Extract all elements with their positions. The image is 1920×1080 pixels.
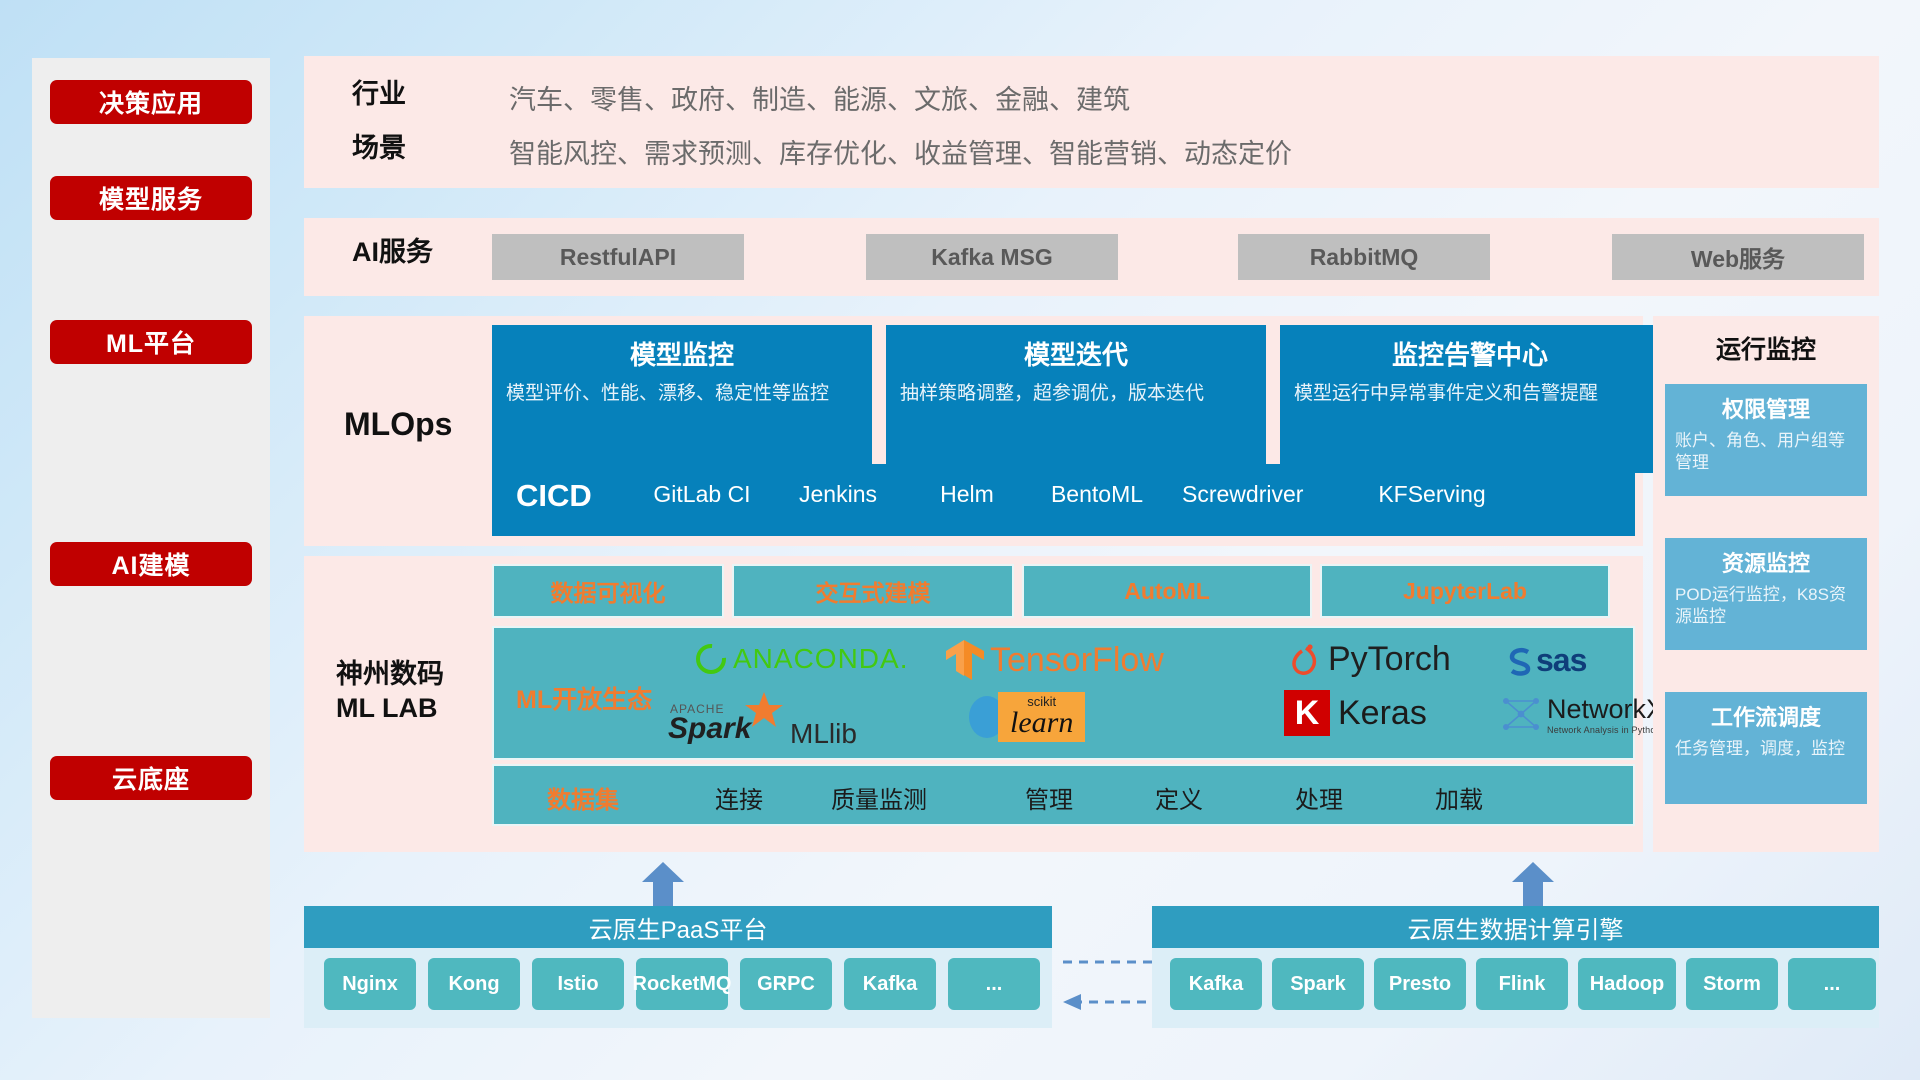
data-engine-up-arrow-icon — [1510, 862, 1556, 906]
ai-service-band: AI服务 RestfulAPI Kafka MSG RabbitMQ Web服务 — [304, 218, 1879, 296]
cicd-item-kfserving[interactable]: KFServing — [1372, 480, 1492, 509]
keras-text: Keras — [1338, 694, 1427, 733]
rail-item-ml-platform[interactable]: ML平台 — [50, 320, 252, 364]
cicd-bar: CICD GitLab CI Jenkins Helm BentoML Scre… — [492, 464, 1635, 536]
cicd-item-label: Helm — [940, 481, 994, 507]
dataset-band: 数据集 连接 质量监测 管理 定义 处理 加载 — [492, 764, 1635, 826]
chip-label: Nginx — [342, 973, 398, 995]
architecture-diagram: 决策应用 模型服务 ML平台 AI建模 云底座 行业 汽车、零售、政府、制造、能… — [0, 0, 1920, 1080]
spark-text: Spark — [668, 712, 751, 746]
chip-label: RabbitMQ — [1310, 244, 1419, 271]
sas-text: sas — [1536, 642, 1586, 679]
learn-text: learn — [1010, 709, 1073, 738]
spark-star-icon — [744, 690, 784, 730]
card-title: 监控告警中心 — [1294, 335, 1646, 372]
chip-label: Web服务 — [1691, 240, 1785, 274]
card-desc: 模型评价、性能、漂移、稳定性等监控 — [506, 381, 858, 407]
cicd-item-gitlab-ci[interactable]: GitLab CI — [642, 480, 762, 509]
chip-label: Kafka MSG — [931, 244, 1052, 271]
card-desc: 模型运行中异常事件定义和告警提醒 — [1294, 381, 1646, 407]
mlops-card-model-monitoring[interactable]: 模型监控 模型评价、性能、漂移、稳定性等监控 — [492, 325, 872, 473]
engine-chip-more[interactable]: ... — [1788, 958, 1876, 1010]
chip-label: Presto — [1389, 973, 1451, 995]
paas-chip-more[interactable]: ... — [948, 958, 1040, 1010]
dataset-item-define[interactable]: 定义 — [1114, 780, 1244, 815]
chip-label: Flink — [1499, 973, 1546, 995]
card-desc: POD运行监控，K8S资源监控 — [1675, 584, 1857, 629]
paas-chip-rocketmq[interactable]: RocketMQ — [636, 958, 728, 1010]
cicd-item-bentoml[interactable]: BentoML — [1037, 480, 1157, 509]
chip-label: Spark — [1290, 973, 1346, 995]
monitor-card-permission[interactable]: 权限管理 账户、角色、用户组等管理 — [1665, 384, 1867, 496]
rail-label: 决策应用 — [99, 84, 203, 120]
chip-label: RestfulAPI — [560, 244, 676, 271]
rail-label: 云底座 — [112, 760, 190, 796]
scikit-learn-logo: scikit learn — [964, 692, 1085, 742]
rail-label: ML平台 — [106, 324, 196, 360]
networkx-text: NetworkX — [1547, 694, 1664, 725]
paas-chip-istio[interactable]: Istio — [532, 958, 624, 1010]
cicd-item-label: BentoML — [1051, 481, 1143, 507]
dataset-item-quality[interactable]: 质量监测 — [814, 780, 944, 815]
chip-label: ... — [1824, 973, 1841, 995]
rail-item-cloud-base[interactable]: 云底座 — [50, 756, 252, 800]
cicd-item-helm[interactable]: Helm — [907, 480, 1027, 509]
cicd-item-label: Jenkins — [799, 481, 877, 507]
mlops-label: MLOps — [344, 404, 452, 444]
service-chip-web-service[interactable]: Web服务 — [1612, 234, 1864, 280]
mllib-text: MLlib — [790, 718, 857, 750]
ml-lab-label-line2: ML LAB — [336, 692, 444, 726]
chip-label: Kafka — [1189, 973, 1243, 995]
tab-label: 数据可视化 — [551, 574, 666, 608]
runtime-monitor-panel: 运行监控 权限管理 账户、角色、用户组等管理 资源监控 POD运行监控，K8S资… — [1653, 316, 1879, 852]
chip-label: Kafka — [863, 973, 917, 995]
service-chip-kafka-msg[interactable]: Kafka MSG — [866, 234, 1118, 280]
anaconda-logo: ANACONDA. — [694, 642, 908, 676]
cicd-item-screwdriver[interactable]: Screwdriver — [1182, 480, 1302, 509]
rail-item-ai-modeling[interactable]: AI建模 — [50, 542, 252, 586]
chip-label: Istio — [557, 973, 598, 995]
chip-label: Storm — [1703, 973, 1761, 995]
applications-band: 行业 汽车、零售、政府、制造、能源、文旅、金融、建筑 场景 智能风控、需求预测、… — [304, 56, 1879, 188]
tensorflow-text: TensorFlow — [990, 641, 1164, 680]
tab-label: AutoML — [1124, 578, 1210, 605]
ai-service-label: AI服务 — [352, 236, 433, 270]
paas-chip-grpc[interactable]: GRPC — [740, 958, 832, 1010]
paas-chip-kafka[interactable]: Kafka — [844, 958, 936, 1010]
industry-value: 汽车、零售、政府、制造、能源、文旅、金融、建筑 — [509, 78, 1130, 117]
ml-ecosystem-band: ML开放生态 ANACONDA. TensorFlow PyTorch — [492, 626, 1635, 760]
engine-chip-kafka[interactable]: Kafka — [1170, 958, 1262, 1010]
chip-label: Hadoop — [1590, 973, 1664, 995]
monitor-panel-title: 运行监控 — [1653, 330, 1879, 366]
layer-rail: 决策应用 模型服务 ML平台 AI建模 云底座 — [32, 58, 270, 1018]
anaconda-icon — [694, 642, 728, 676]
data-engine-header: 云原生数据计算引擎 — [1152, 906, 1879, 948]
card-desc: 账户、角色、用户组等管理 — [1675, 430, 1857, 475]
keras-logo: K Keras — [1284, 690, 1427, 736]
card-title: 权限管理 — [1675, 392, 1857, 424]
dataset-item-load[interactable]: 加载 — [1394, 780, 1524, 815]
card-desc: 抽样策略调整，超参调优，版本迭代 — [900, 381, 1252, 407]
engine-chip-hadoop[interactable]: Hadoop — [1578, 958, 1676, 1010]
industry-label: 行业 — [352, 78, 406, 112]
service-chip-restfulapi[interactable]: RestfulAPI — [492, 234, 744, 280]
rail-label: AI建模 — [111, 546, 190, 582]
chip-label: RocketMQ — [633, 973, 732, 995]
dataset-item-manage[interactable]: 管理 — [984, 780, 1114, 815]
service-chip-rabbitmq[interactable]: RabbitMQ — [1238, 234, 1490, 280]
card-title: 工作流调度 — [1675, 700, 1857, 732]
lab-tab-interactive-modeling[interactable]: 交互式建模 — [732, 564, 1014, 618]
scenario-label: 场景 — [352, 132, 406, 166]
spark-mllib-logo: APACHE Spark MLlib — [664, 694, 857, 750]
paas-title: 云原生PaaS平台 — [589, 910, 768, 945]
paas-header: 云原生PaaS平台 — [304, 906, 1052, 948]
tensorflow-icon — [944, 638, 986, 682]
card-title: 资源监控 — [1675, 546, 1857, 578]
tensorflow-logo: TensorFlow — [944, 638, 1164, 682]
data-engine-title: 云原生数据计算引擎 — [1408, 910, 1624, 945]
networkx-logo: NetworkX Network Analysis in Python — [1499, 692, 1664, 736]
lab-tab-jupyterlab[interactable]: JupyterLab — [1320, 564, 1610, 618]
engine-chip-presto[interactable]: Presto — [1374, 958, 1466, 1010]
mlops-card-alert-center[interactable]: 监控告警中心 模型运行中异常事件定义和告警提醒 — [1280, 325, 1660, 473]
networkx-subtitle: Network Analysis in Python — [1547, 725, 1664, 735]
pytorch-logo: PyTorch — [1289, 640, 1451, 679]
monitor-card-resource[interactable]: 资源监控 POD运行监控，K8S资源监控 — [1665, 538, 1867, 650]
monitor-card-workflow[interactable]: 工作流调度 任务管理，调度，监控 — [1665, 692, 1867, 804]
pytorch-icon — [1289, 641, 1323, 679]
engine-chip-storm[interactable]: Storm — [1686, 958, 1778, 1010]
cicd-title: CICD — [516, 478, 592, 514]
rail-label: 模型服务 — [99, 180, 203, 216]
cicd-item-label: GitLab CI — [653, 481, 750, 507]
dataset-item-process[interactable]: 处理 — [1254, 780, 1384, 815]
card-desc: 任务管理，调度，监控 — [1675, 738, 1857, 760]
card-title: 模型监控 — [506, 335, 858, 372]
mlops-card-model-iteration[interactable]: 模型迭代 抽样策略调整，超参调优，版本迭代 — [886, 325, 1266, 473]
ml-ecosystem-label: ML开放生态 — [516, 680, 652, 716]
anaconda-text: ANACONDA. — [733, 643, 908, 675]
networkx-graph-icon — [1499, 692, 1543, 736]
dataset-item-connect[interactable]: 连接 — [674, 780, 804, 815]
dataset-label: 数据集 — [518, 780, 648, 815]
paas-up-arrow-icon — [640, 862, 686, 906]
paas-chip-kong[interactable]: Kong — [428, 958, 520, 1010]
tab-label: 交互式建模 — [816, 574, 931, 608]
chip-label: Kong — [448, 973, 499, 995]
lab-tab-data-visualization[interactable]: 数据可视化 — [492, 564, 724, 618]
cicd-item-label: Screwdriver — [1182, 481, 1303, 507]
sas-icon — [1504, 645, 1536, 677]
engine-chip-flink[interactable]: Flink — [1476, 958, 1568, 1010]
scenario-value: 智能风控、需求预测、库存优化、收益管理、智能营销、动态定价 — [509, 132, 1292, 171]
paas-chip-nginx[interactable]: Nginx — [324, 958, 416, 1010]
rail-item-model-service[interactable]: 模型服务 — [50, 176, 252, 220]
engine-chip-spark[interactable]: Spark — [1272, 958, 1364, 1010]
sas-logo: sas — [1504, 642, 1586, 679]
cicd-item-label: KFServing — [1378, 481, 1485, 507]
rail-item-decision-apps[interactable]: 决策应用 — [50, 80, 252, 124]
card-title: 模型迭代 — [900, 335, 1252, 372]
chip-label: ... — [986, 973, 1003, 995]
cicd-item-jenkins[interactable]: Jenkins — [778, 480, 898, 509]
ml-lab-label: 神州数码 ML LAB — [336, 658, 444, 726]
pytorch-text: PyTorch — [1328, 640, 1451, 679]
keras-k-icon: K — [1284, 690, 1330, 736]
ml-lab-label-line1: 神州数码 — [336, 658, 444, 692]
lab-tab-automl[interactable]: AutoML — [1022, 564, 1312, 618]
tab-label: JupyterLab — [1403, 578, 1527, 605]
chip-label: GRPC — [757, 973, 815, 995]
